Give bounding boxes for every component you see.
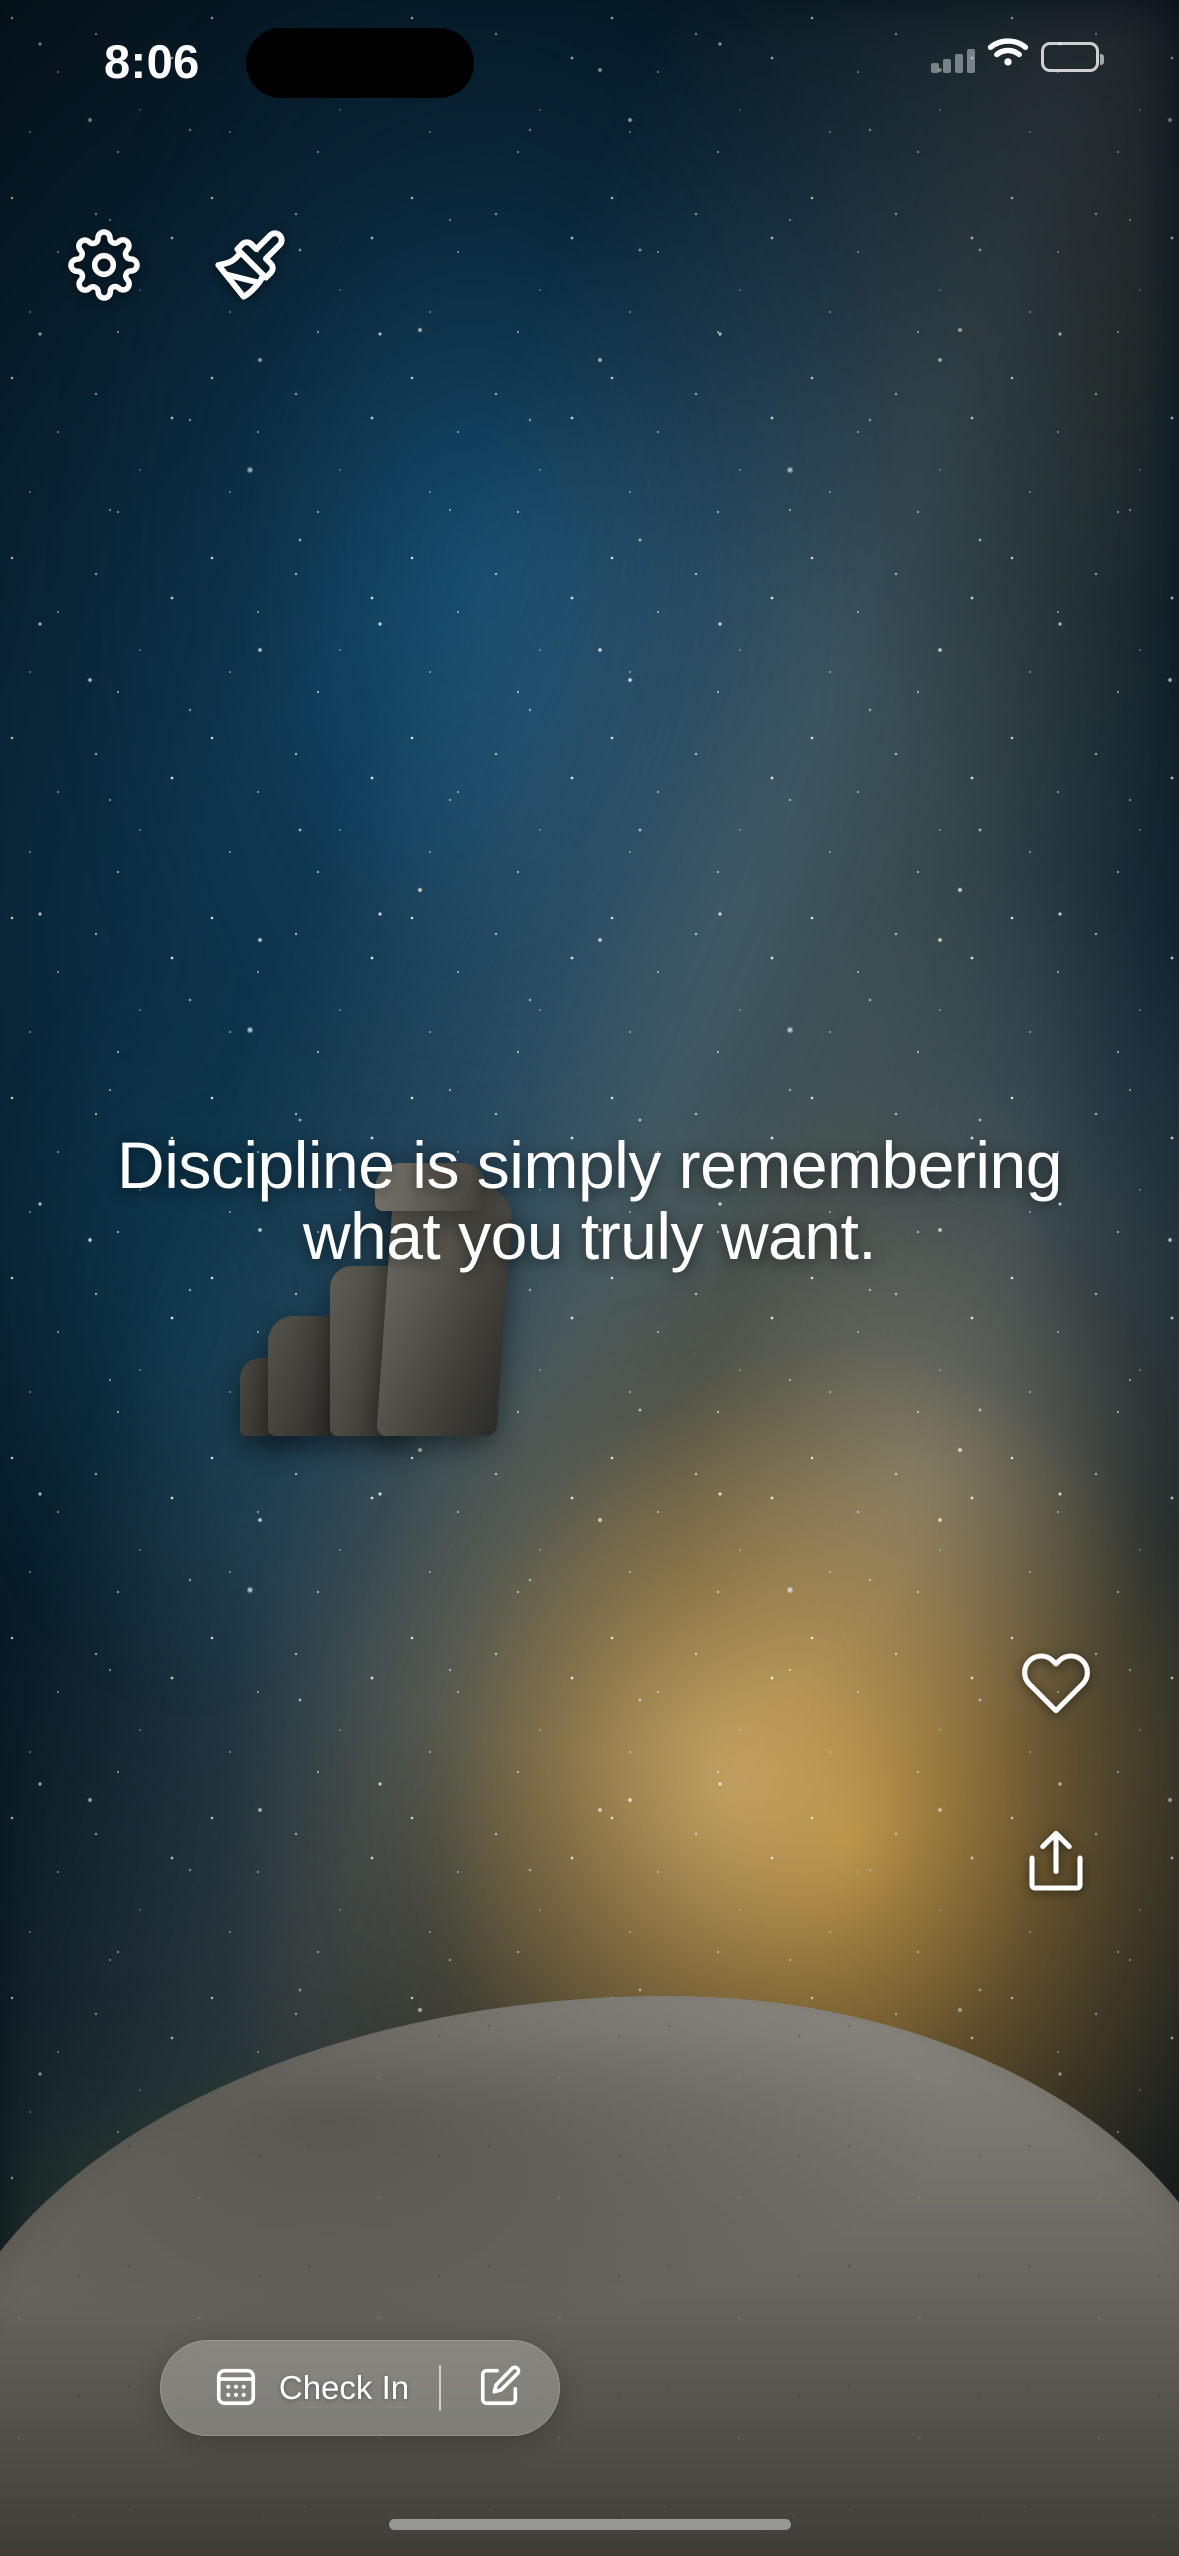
top-action-bar [0, 225, 1179, 309]
share-button[interactable] [1011, 1818, 1101, 1908]
paintbrush-icon [212, 227, 288, 308]
wifi-icon [987, 38, 1029, 75]
calendar-grid-icon [213, 2363, 259, 2414]
compose-pencil-icon [477, 2363, 523, 2414]
dynamic-island [246, 28, 474, 98]
bottom-action-bar: Check In [160, 2340, 560, 2436]
status-bar-clock: 8:06 [104, 34, 200, 89]
settings-button[interactable] [62, 225, 146, 309]
quote-text: Discipline is simply remembering what yo… [70, 1130, 1109, 1273]
rock-left [268, 1316, 338, 1436]
share-icon [1020, 1825, 1092, 1902]
home-indicator[interactable] [389, 2519, 791, 2530]
status-bar: 8:06 [0, 0, 1179, 130]
check-in-label: Check In [279, 2369, 409, 2407]
phone-screen: 8:06 [0, 0, 1179, 2556]
favorite-button[interactable] [1011, 1640, 1101, 1730]
theme-button[interactable] [208, 225, 292, 309]
cellular-signal-icon [931, 41, 975, 73]
check-in-button[interactable]: Check In [161, 2341, 439, 2435]
status-bar-indicators [931, 38, 1099, 75]
side-action-bar [1011, 1640, 1101, 1908]
heart-icon [1020, 1647, 1092, 1724]
battery-icon [1041, 42, 1099, 72]
compose-button[interactable] [441, 2341, 559, 2435]
gear-icon [68, 229, 140, 306]
